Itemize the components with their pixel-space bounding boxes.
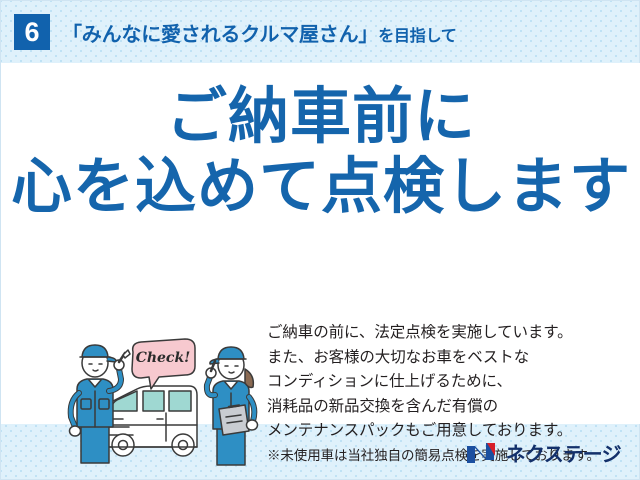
description-line-5: メンテナンスパックもご用意しております。 [267, 422, 572, 439]
header-title-sub: を目指して [378, 22, 457, 46]
header-title: 「みんなに愛されるクルマ屋さん」 を目指して [62, 18, 457, 47]
mechanics-illustration: Check! [63, 335, 263, 467]
description-line-1: ご納車の前に、法定点検を実施しています。 [267, 324, 573, 341]
brand-logo: ネクステージ [465, 438, 621, 467]
check-bubble-label: Check! [136, 350, 191, 366]
header-title-main: 「みんなに愛されるクルマ屋さん」 [62, 18, 378, 47]
poster-canvas: 6 「みんなに愛されるクルマ屋さん」 を目指して ご納車前に 心を込めて点検しま… [0, 0, 640, 480]
page-title-line2: 心を込めて点検します [1, 155, 640, 217]
nexstage-n-mark [465, 441, 499, 465]
content-panel: ご納車前に 心を込めて点検します ご納車の前に、法定点検を実施しています。 また… [1, 63, 640, 424]
header-bar: 6 「みんなに愛されるクルマ屋さん」 を目指して [1, 1, 640, 63]
van-illustration [103, 386, 197, 456]
description-line-4: 消耗品の新品交換を含んだ有償の [267, 398, 498, 415]
brand-name: ネクステージ [506, 438, 621, 467]
description-line-2: また、お客様の大切なお車をベストな [267, 349, 529, 366]
section-number-badge: 6 [14, 14, 50, 50]
description-line-3: コンディションに仕上げるために、 [267, 373, 512, 390]
page-title-line1: ご納車前に [1, 85, 640, 147]
page-title: ご納車前に 心を込めて点検します [1, 85, 640, 217]
female-mechanic [206, 347, 258, 465]
